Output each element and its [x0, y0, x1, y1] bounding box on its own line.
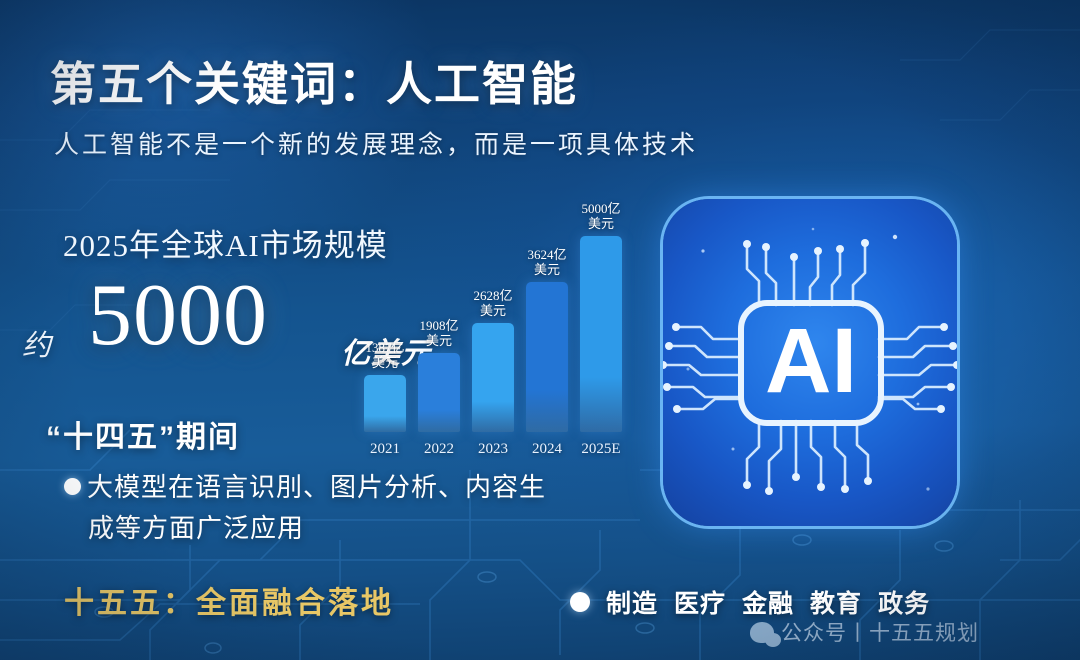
bar-2024 [526, 282, 568, 432]
ai-chip-icon: AI [663, 199, 957, 526]
watermark-text: 公众号丨十五五规划 [781, 617, 979, 647]
bar-column-2023: 2628亿美元 [472, 323, 514, 432]
stat-approx-label: 约 [22, 322, 51, 364]
industry-list: 制造 医疗 金融 教育 政务 [570, 584, 930, 620]
bar-value-label-2023: 2628亿美元 [461, 289, 525, 319]
industry-item-3: 教育 [810, 584, 862, 620]
stat-heading: 2025年全球AI市场规模 [63, 220, 388, 265]
market-size-bar-chart: 1387亿美元1908亿美元2628亿美元3624亿美元5000亿美元 2021… [362, 236, 634, 460]
ai-chip-card: AI [663, 199, 957, 526]
bar-column-2022: 1908亿美元 [418, 353, 460, 432]
bar-column-2024: 3624亿美元 [526, 282, 568, 432]
x-axis-label-2024: 2024 [519, 441, 575, 458]
x-axis-label-2025E: 2025E [573, 441, 629, 458]
page-subtitle: 人工智能不是一个新的发展理念，而是一项具体技术 [54, 125, 698, 161]
industry-bullet-icon [570, 592, 590, 612]
page-title: 第五个关键词：人工智能 [50, 48, 578, 114]
industry-item-0: 制造 [606, 584, 658, 620]
plan-period-heading: “十四五”期间 [46, 412, 240, 456]
bar-2021 [364, 375, 406, 432]
plan-bullet: 大模型在语言识刖、图片分析、内容生 [64, 470, 624, 505]
bar-column-2025E: 5000亿美元 [580, 236, 622, 432]
x-axis-label-2022: 2022 [411, 441, 467, 458]
industry-item-2: 金融 [742, 584, 794, 620]
plan-bullet-line1: 大模型在语言识刖、图片分析、内容生 [87, 472, 546, 502]
plan-bullet-line2: 成等方面广泛应用 [88, 508, 304, 545]
bar-2025E [580, 236, 622, 432]
slide-canvas: 第五个关键词：人工智能 人工智能不是一个新的发展理念，而是一项具体技术 2025… [0, 0, 1080, 660]
bar-2023 [472, 323, 514, 432]
industry-item-1: 医疗 [674, 584, 726, 620]
watermark: 公众号丨十五五规划 [750, 617, 979, 647]
bar-value-label-2025E: 5000亿美元 [569, 202, 633, 232]
bar-value-label-2022: 1908亿美元 [407, 319, 471, 349]
x-axis-label-2023: 2023 [465, 441, 521, 458]
bar-value-label-2024: 3624亿美元 [515, 248, 579, 278]
bullet-dot-icon [64, 478, 81, 495]
bar-2022 [418, 353, 460, 432]
x-axis-label-2021: 2021 [357, 441, 413, 458]
industry-item-4: 政务 [878, 584, 930, 620]
ai-chip-label: AI [765, 310, 857, 412]
bar-column-2021: 1387亿美元 [364, 375, 406, 432]
stat-number: 5000 [88, 272, 268, 360]
plan-gold-line: 十五五：全面融合落地 [64, 578, 394, 622]
bar-group: 1387亿美元1908亿美元2628亿美元3624亿美元5000亿美元 [362, 236, 634, 432]
wechat-icon [750, 622, 774, 643]
